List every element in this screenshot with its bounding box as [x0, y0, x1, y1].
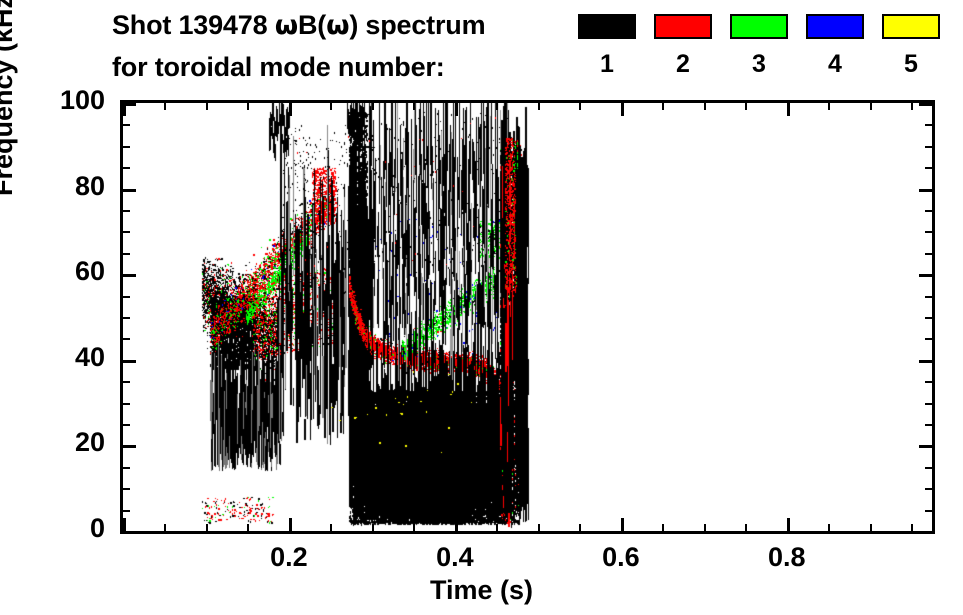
xtick-minor-top-0.1 [206, 103, 208, 110]
xtick-minor-top-0.7 [704, 103, 706, 110]
xtick-minor-top-0.25 [330, 103, 332, 110]
xtick-minor-top-0.15 [247, 103, 249, 110]
ytick-major-right-60 [919, 274, 932, 277]
ytick-major-0 [123, 531, 136, 534]
ytick-major-40 [123, 360, 136, 363]
xtick-minor-top-0.75 [745, 103, 747, 110]
xtick-major-0.4 [455, 518, 458, 531]
plot-area [120, 100, 935, 534]
ytick-minor-right-45 [925, 338, 932, 340]
legend-swatch-mode-n5 [882, 14, 940, 39]
ytick-minor-right-35 [925, 381, 932, 383]
ytick-major-20 [123, 445, 136, 448]
ytick-minor-right-5 [925, 510, 932, 512]
ytick-minor-right-75 [925, 210, 932, 212]
ytick-minor-30 [123, 403, 130, 405]
xtick-major-top-0.6 [621, 103, 624, 116]
ytick-label-40: 40 [0, 342, 105, 373]
ytick-label-0: 0 [0, 513, 105, 544]
ytick-minor-25 [123, 424, 130, 426]
ytick-label-60: 60 [0, 256, 105, 287]
ytick-minor-5 [123, 510, 130, 512]
ytick-minor-right-50 [925, 317, 932, 319]
ytick-minor-65 [123, 253, 130, 255]
legend-label-mode-n2: 2 [654, 50, 712, 79]
xtick-minor-0.15 [247, 524, 249, 531]
ytick-minor-85 [123, 167, 130, 169]
ytick-major-right-40 [919, 360, 932, 363]
xtick-minor-0.35 [413, 524, 415, 531]
ytick-minor-right-25 [925, 424, 932, 426]
figure-title-line-1: Shot 139478 ωB(ω) spectrum [112, 10, 485, 41]
legend-entry-mode-n3[interactable]: 3 [730, 14, 788, 39]
xtick-minor-top-0.45 [496, 103, 498, 110]
xtick-minor-0.7 [704, 524, 706, 531]
ytick-minor-right-55 [925, 296, 932, 298]
spectrogram-figure: Shot 139478 ωB(ω) spectrum for toroidal … [0, 0, 963, 615]
title-suffix: ) spectrum [349, 10, 485, 40]
ytick-major-right-20 [919, 445, 932, 448]
x-axis-label: Time (s) [0, 575, 963, 606]
xtick-major-top-0.8 [787, 103, 790, 116]
legend-entry-mode-n5[interactable]: 5 [882, 14, 940, 39]
xtick-minor-0.5 [538, 524, 540, 531]
xtick-minor-0.25 [330, 524, 332, 531]
legend-swatch-mode-n2 [654, 14, 712, 39]
ytick-minor-95 [123, 124, 130, 126]
xtick-minor-0.85 [828, 524, 830, 531]
spectrogram-canvas [123, 103, 932, 531]
xtick-minor-top-0.5 [538, 103, 540, 110]
ytick-minor-90 [123, 146, 130, 148]
xtick-major-0 [123, 518, 126, 531]
xtick-minor-0.55 [579, 524, 581, 531]
xtick-minor-0.65 [662, 524, 664, 531]
ytick-major-60 [123, 274, 136, 277]
xtick-minor-0.45 [496, 524, 498, 531]
ytick-minor-75 [123, 210, 130, 212]
xtick-minor-top-0.55 [579, 103, 581, 110]
ytick-minor-70 [123, 231, 130, 233]
legend-label-mode-n5: 5 [882, 50, 940, 79]
xtick-minor-top-0.85 [828, 103, 830, 110]
xtick-label-0.6: 0.6 [561, 542, 681, 573]
xtick-minor-top-0.65 [662, 103, 664, 110]
xtick-minor-top-0.3 [372, 103, 374, 110]
title-mid: B( [298, 10, 326, 40]
xtick-minor-top-0.05 [164, 103, 166, 110]
title-prefix: Shot 139478 [112, 10, 275, 40]
xtick-minor-0.3 [372, 524, 374, 531]
legend-entry-mode-n4[interactable]: 4 [806, 14, 864, 39]
xtick-major-top-0.2 [289, 103, 292, 116]
ytick-minor-55 [123, 296, 130, 298]
xtick-label-0.2: 0.2 [229, 542, 349, 573]
legend-label-mode-n1: 1 [578, 50, 636, 79]
legend-swatch-mode-n4 [806, 14, 864, 39]
ytick-major-right-0 [919, 531, 932, 534]
xtick-minor-top-0.95 [911, 103, 913, 110]
legend-label-mode-n4: 4 [806, 50, 864, 79]
xtick-minor-0.75 [745, 524, 747, 531]
ytick-minor-15 [123, 467, 130, 469]
legend-swatch-mode-n1 [578, 14, 636, 39]
ytick-minor-right-65 [925, 253, 932, 255]
ytick-minor-right-30 [925, 403, 932, 405]
xtick-minor-top-0.9 [870, 103, 872, 110]
xtick-minor-0.1 [206, 524, 208, 531]
ytick-minor-45 [123, 338, 130, 340]
omega-symbol-1: ω [275, 10, 298, 41]
ytick-minor-right-95 [925, 124, 932, 126]
ytick-minor-right-15 [925, 467, 932, 469]
xtick-major-0.6 [621, 518, 624, 531]
xtick-major-0.2 [289, 518, 292, 531]
y-axis-label: Frequency (kHz) [0, 0, 19, 196]
xtick-major-top-0 [123, 103, 126, 116]
ytick-minor-right-85 [925, 167, 932, 169]
legend-label-mode-n3: 3 [730, 50, 788, 79]
ytick-minor-right-90 [925, 146, 932, 148]
ytick-minor-35 [123, 381, 130, 383]
xtick-major-0.8 [787, 518, 790, 531]
ytick-major-right-80 [919, 189, 932, 192]
ytick-major-right-100 [919, 103, 932, 106]
omega-symbol-2: ω [326, 10, 349, 41]
xtick-major-top-0.4 [455, 103, 458, 116]
ytick-label-20: 20 [0, 427, 105, 458]
xtick-minor-0.9 [870, 524, 872, 531]
legend-swatch-mode-n3 [730, 14, 788, 39]
xtick-label-0.4: 0.4 [395, 542, 515, 573]
mode-number-legend: 12345 [578, 14, 928, 84]
xtick-minor-0.05 [164, 524, 166, 531]
ytick-major-80 [123, 189, 136, 192]
legend-entry-mode-n1[interactable]: 1 [578, 14, 636, 39]
xtick-minor-0.95 [911, 524, 913, 531]
xtick-minor-top-0.35 [413, 103, 415, 110]
ytick-minor-10 [123, 488, 130, 490]
xtick-label-0.8: 0.8 [727, 542, 847, 573]
ytick-minor-right-10 [925, 488, 932, 490]
ytick-minor-right-70 [925, 231, 932, 233]
figure-title-line-2: for toroidal mode number: [112, 52, 445, 83]
legend-entry-mode-n2[interactable]: 2 [654, 14, 712, 39]
ytick-minor-50 [123, 317, 130, 319]
